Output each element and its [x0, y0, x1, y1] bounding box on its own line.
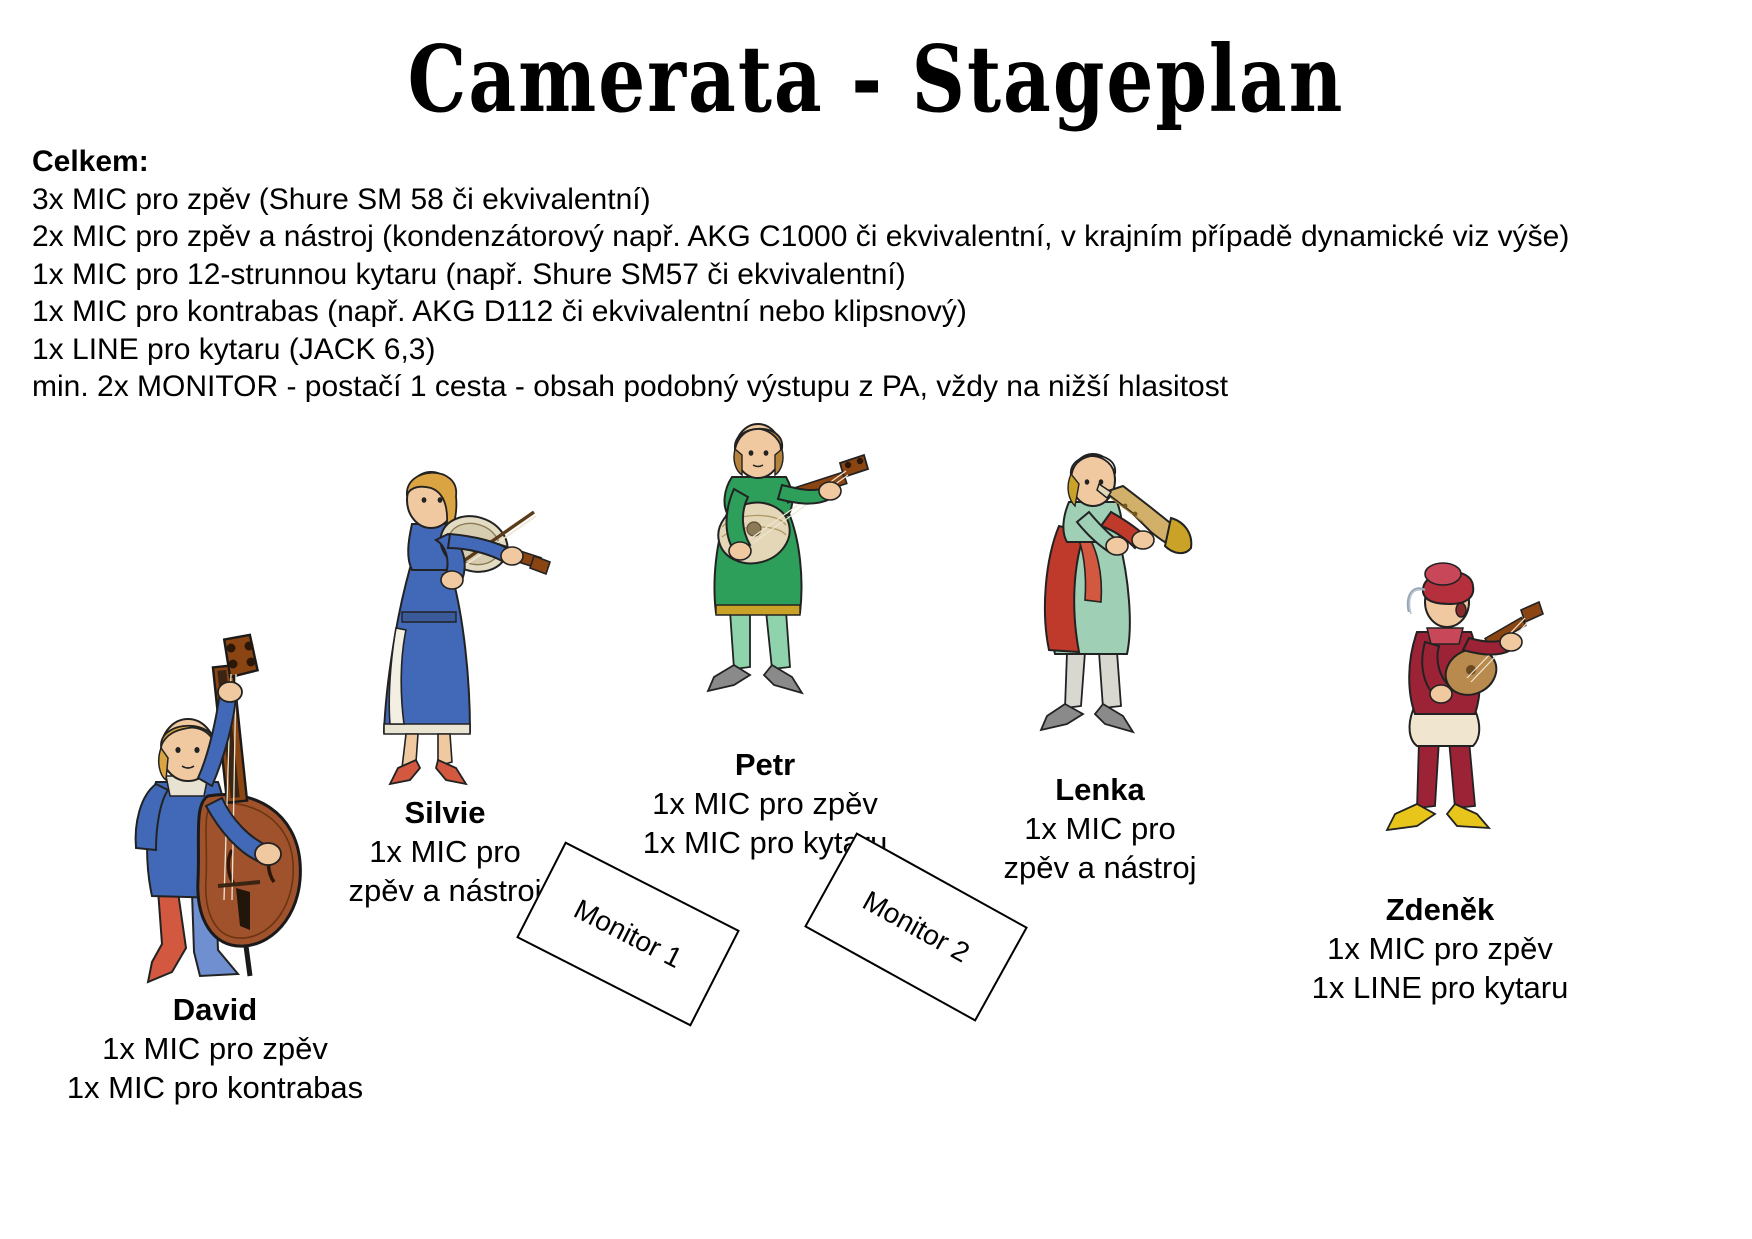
monitor-2-label: Monitor 2 — [857, 885, 975, 970]
requirement-line-2: 2x MIC pro zpěv a nástroj (kondenzátorov… — [32, 218, 1732, 256]
performer-silvie: Silvie 1x MIC pro zpěv a nástroj — [285, 448, 605, 910]
lute-player-illustration — [658, 415, 873, 745]
performer-caption-zdenek: Zdeněk 1x MIC pro zpěv 1x LINE pro kytar… — [1255, 890, 1625, 1007]
shawm-player-illustration — [993, 440, 1208, 770]
requirement-line-6: min. 2x MONITOR - postačí 1 cesta - obsa… — [32, 368, 1732, 406]
performer-petr: Petr 1x MIC pro zpěv 1x MIC pro kytaru — [600, 415, 930, 862]
performer-req-zdenek-1: 1x MIC pro zpěv — [1255, 929, 1625, 968]
monitor-1-box[interactable]: Monitor 1 — [516, 841, 740, 1026]
performer-lenka: Lenka 1x MIC pro zpěv a nástroj — [940, 440, 1260, 887]
monitor-1-label: Monitor 1 — [569, 893, 688, 975]
fiddle-player-illustration — [338, 448, 553, 793]
requirement-line-5: 1x LINE pro kytaru (JACK 6,3) — [32, 331, 1732, 369]
performer-caption-petr: Petr 1x MIC pro zpěv 1x MIC pro kytaru — [600, 745, 930, 862]
requirement-line-3: 1x MIC pro 12-strunnou kytaru (např. Shu… — [32, 256, 1732, 294]
page-title: Camerata - Stageplan — [0, 26, 1752, 134]
performer-name-petr: Petr — [600, 745, 930, 784]
performer-caption-david: David 1x MIC pro zpěv 1x MIC pro kontrab… — [30, 990, 400, 1107]
requirements-heading: Celkem: — [32, 143, 1732, 181]
performer-req-david-1: 1x MIC pro zpěv — [30, 1029, 400, 1068]
performer-req-petr-1: 1x MIC pro zpěv — [600, 784, 930, 823]
stageplan-page: Camerata - Stageplan Celkem: 3x MIC pro … — [0, 0, 1752, 1239]
requirement-line-1: 3x MIC pro zpěv (Shure SM 58 či ekvivale… — [32, 181, 1732, 219]
page-title-text: Camerata - Stageplan — [408, 26, 1345, 134]
performer-req-lenka-1: 1x MIC pro — [940, 809, 1260, 848]
performer-zdenek: Zdeněk 1x MIC pro zpěv 1x LINE pro kytar… — [1255, 560, 1625, 1007]
performer-name-zdenek: Zdeněk — [1255, 890, 1625, 929]
performer-req-lenka-2: zpěv a nástroj — [940, 848, 1260, 887]
overall-requirements-block: Celkem: 3x MIC pro zpěv (Shure SM 58 či … — [32, 143, 1732, 406]
performer-name-lenka: Lenka — [940, 770, 1260, 809]
singing-lute-player-illustration — [1325, 560, 1555, 890]
requirement-line-4: 1x MIC pro kontrabas (např. AKG D112 či … — [32, 293, 1732, 331]
performer-req-david-2: 1x MIC pro kontrabas — [30, 1068, 400, 1107]
performer-name-david: David — [30, 990, 400, 1029]
performer-req-zdenek-2: 1x LINE pro kytaru — [1255, 968, 1625, 1007]
performer-name-silvie: Silvie — [285, 793, 605, 832]
performer-caption-lenka: Lenka 1x MIC pro zpěv a nástroj — [940, 770, 1260, 887]
